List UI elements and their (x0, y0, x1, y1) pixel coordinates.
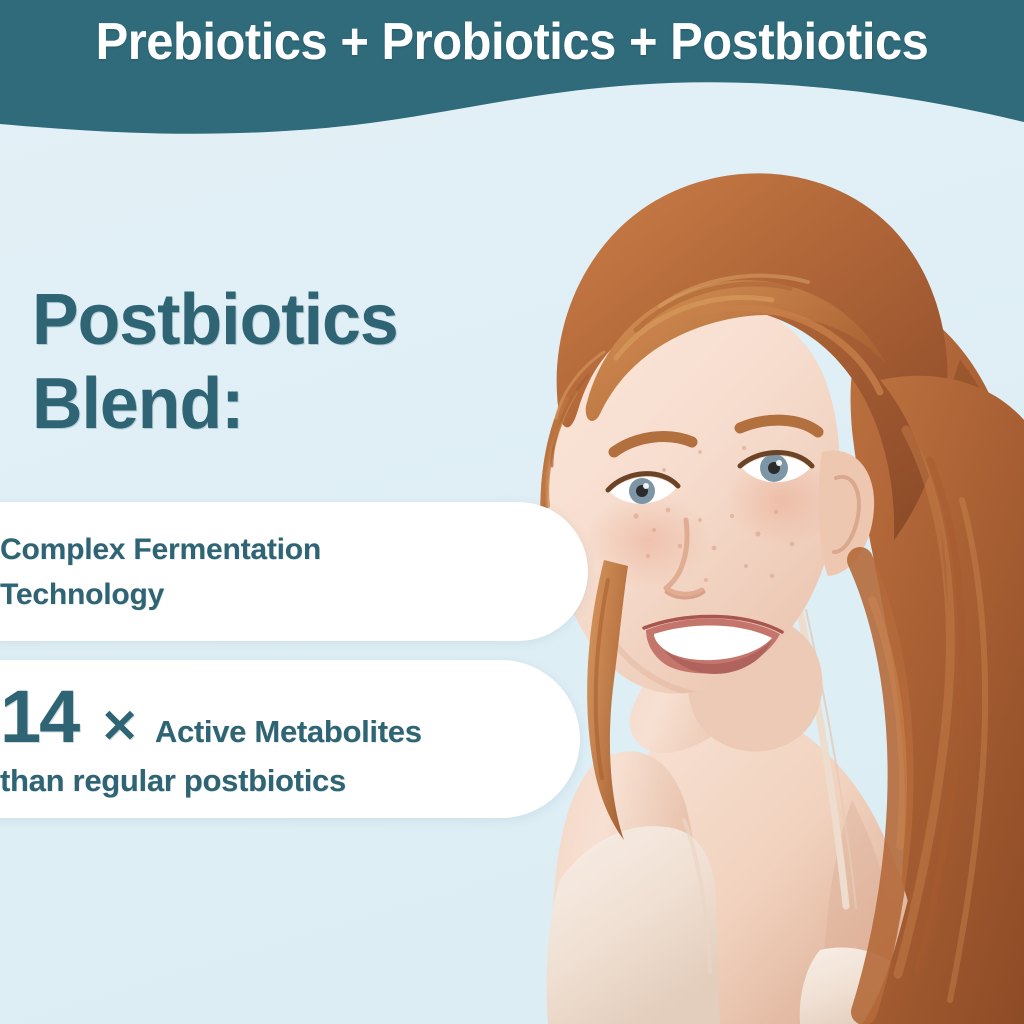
metabolites-label: Active Metabolites (155, 716, 422, 747)
product-graphic-canvas: Prebiotics + Probiotics + Postbiotics Po… (0, 0, 1024, 1024)
fermentation-line-2: Technology (0, 572, 321, 617)
metabolites-headline-row: 14 ✕ Active Metabolites (0, 682, 422, 752)
metabolites-subtitle: than regular postbiotics (0, 765, 422, 796)
page-title: Prebiotics + Probiotics + Postbiotics (31, 15, 994, 70)
fermentation-line-1: Complex Fermentation (0, 527, 321, 572)
card-text-wrap: Complex Fermentation Technology (0, 502, 321, 641)
headline-line-2: Blend: (32, 362, 398, 446)
metabolites-count: 14 (0, 682, 78, 752)
headline-line-1: Postbiotics (32, 278, 398, 362)
card-text-wrap: 14 ✕ Active Metabolites than regular pos… (0, 660, 422, 818)
card-complex-fermentation-technology: Complex Fermentation Technology (0, 502, 588, 641)
card-active-metabolites: 14 ✕ Active Metabolites than regular pos… (0, 660, 580, 818)
headline: Postbiotics Blend: (32, 278, 398, 446)
multiply-icon: ✕ (100, 705, 139, 749)
